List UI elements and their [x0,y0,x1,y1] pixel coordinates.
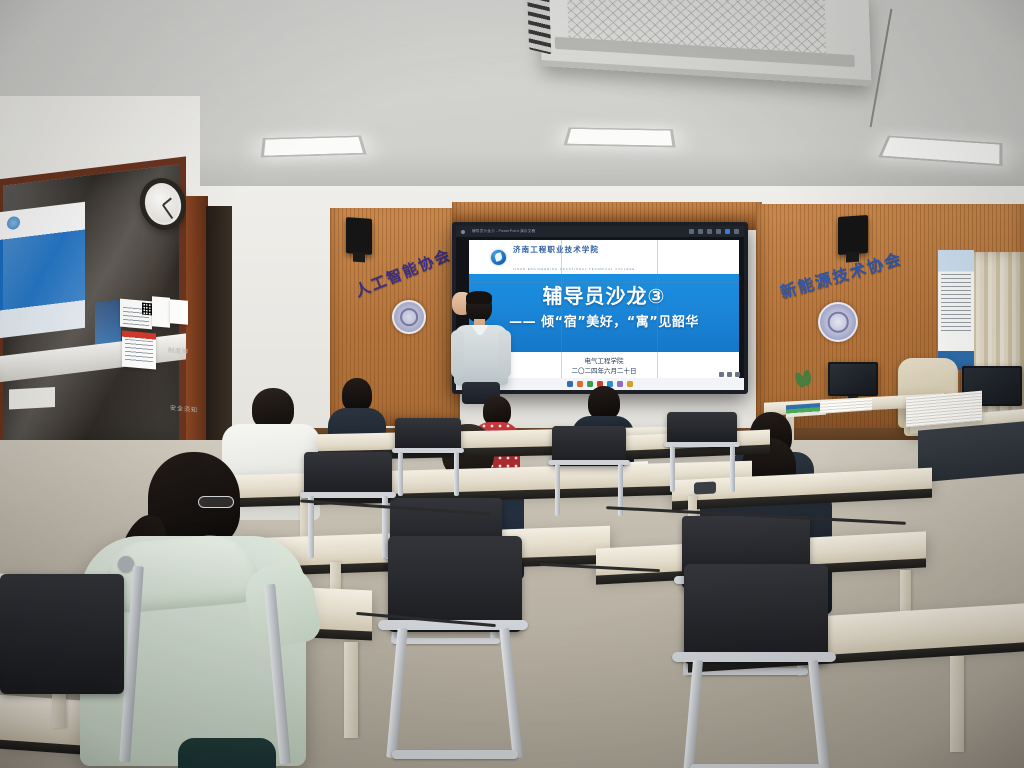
chair-leg [454,452,459,496]
notice-text-lines [125,339,153,363]
chair-leg [386,628,407,758]
desk-panel [918,421,1024,482]
presenter-arm-right [498,330,511,378]
presentation-titlebar: 辅导员沙龙③ - PowerPoint 演示文稿 [456,226,744,237]
college-name-cn: 济南工程职业技术学院 [513,245,599,254]
presenter-arm-left [451,330,464,378]
eyeglasses-icon [198,496,234,508]
chair-frame [664,442,740,447]
toolbar-icon[interactable] [698,229,703,234]
wall-notice-red-header [122,331,156,370]
potted-plant [796,372,814,400]
table-leg [950,656,964,752]
table-leg [344,642,358,738]
meeting-chair[interactable] [548,426,630,518]
association-emblem-right [818,302,858,342]
college-name-en: JINAN ENGINEERING VOCATIONAL TECHNICAL C… [513,268,635,271]
chair-leg [670,446,675,492]
chair-leg [499,628,523,758]
wall-notice [170,299,188,325]
chair-foot-rail [392,750,518,759]
meeting-chair[interactable] [664,412,740,496]
ac-vane-left [527,0,552,55]
chair-leg [683,660,703,768]
chair-leg [730,446,735,492]
chair-backrest-front[interactable] [0,574,124,694]
slide-header: 济南工程职业技术学院 JINAN ENGINEERING VOCATIONAL … [469,240,739,274]
wall-speaker-icon [346,217,372,255]
minimize-icon[interactable] [734,229,739,234]
chair-backrest[interactable] [684,564,828,664]
chair-leg [398,452,403,496]
chair-backrest[interactable] [395,418,461,452]
chair-leg [555,464,560,516]
wall-notice [152,296,170,328]
window-icon [461,230,465,234]
meeting-chair-front[interactable] [672,564,836,768]
meeting-chair[interactable] [392,418,464,498]
wall-speaker-icon [838,215,868,255]
ceiling-light-panel [564,127,676,147]
chair-backrest[interactable] [667,412,737,446]
view-icon[interactable] [727,372,732,377]
titlebar-tools[interactable] [689,229,739,234]
toolbar-icon[interactable] [716,229,721,234]
attendee-hair [588,386,620,420]
chair-foot-rail [690,764,822,768]
attendee-trousers [178,738,276,768]
meeting-room-photo: 人工智能协会 新能源技术协会 辅导员沙龙③ - PowerPoint 演示文稿 … [0,0,1024,768]
meeting-chair-front[interactable] [378,536,528,762]
ceiling-light-panel [261,136,367,158]
fullscreen-icon[interactable] [735,372,740,377]
presenter-hair [466,291,492,304]
presenter-person [452,292,510,402]
college-name-block: 济南工程职业技术学院 JINAN ENGINEERING VOCATIONAL … [513,240,635,275]
clock-minute-hand [162,204,173,218]
slide-department: 电气工程学院 [585,357,624,365]
wall-small-text: 制度牌 [168,345,189,356]
wall-poster-right [938,250,974,370]
zoom-icon[interactable] [719,372,724,377]
toolbar-icon[interactable] [707,229,712,234]
toolbar-icon[interactable] [689,229,694,234]
display-right-tools[interactable] [719,372,740,377]
clock-face [146,185,181,223]
college-logo-icon [491,250,506,265]
monitor-screen [830,364,876,394]
slide-date: 二〇二四年六月二十日 [572,367,637,375]
presentation-title: 辅导员沙龙③ - PowerPoint 演示文稿 [472,229,535,234]
association-emblem-left [392,300,426,334]
leaf [803,370,811,386]
door-frame [186,196,208,464]
toolbar-icon-active[interactable] [725,229,730,234]
chair-leg [808,660,830,768]
attendee-hair [342,378,372,412]
poster-text-lines [941,274,971,332]
desktop-monitor[interactable] [828,362,878,396]
